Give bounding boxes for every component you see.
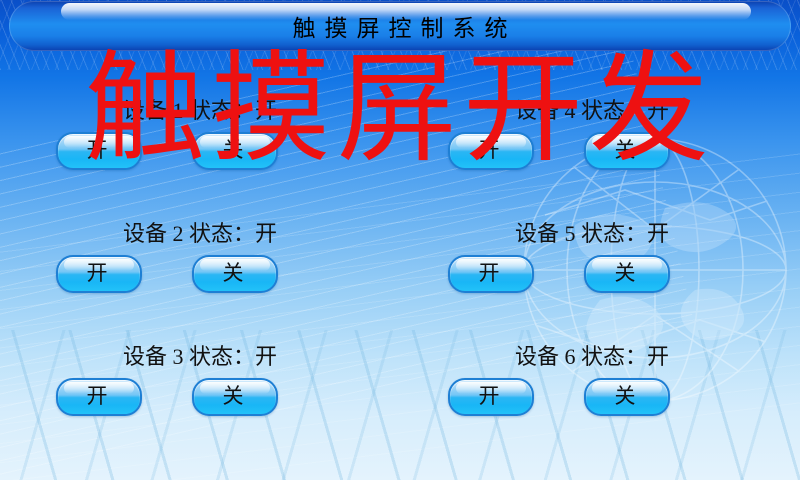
- device-6-on-button[interactable]: 开: [448, 378, 534, 416]
- device-status-label: 设备 2 状态：开: [20, 219, 380, 249]
- device-button-row: 开 关: [412, 132, 772, 172]
- device-1-off-button-label: 关: [194, 134, 272, 164]
- device-6-off-button[interactable]: 关: [584, 378, 670, 416]
- device-5-on-button[interactable]: 开: [448, 255, 534, 293]
- device-status-label: 设备 1 状态：开: [20, 96, 380, 126]
- device-status-label: 设备 4 状态：开: [412, 96, 772, 126]
- device-4-off-button-label: 关: [586, 134, 664, 164]
- device-panel-5: 设备 5 状态：开 开 关: [412, 219, 772, 337]
- device-2-off-button-label: 关: [194, 257, 272, 287]
- device-button-row: 开 关: [412, 255, 772, 295]
- device-2-on-button[interactable]: 开: [56, 255, 142, 293]
- device-button-row: 开 关: [20, 255, 380, 295]
- device-panel-2: 设备 2 状态：开 开 关: [20, 219, 380, 337]
- device-status-label: 设备 3 状态：开: [20, 342, 380, 372]
- device-2-on-button-label: 开: [58, 257, 136, 287]
- device-3-off-button-label: 关: [194, 380, 272, 410]
- device-5-on-button-label: 开: [450, 257, 528, 287]
- device-panel-3: 设备 3 状态：开 开 关: [20, 342, 380, 460]
- device-panel-6: 设备 6 状态：开 开 关: [412, 342, 772, 460]
- device-5-off-button-label: 关: [586, 257, 664, 287]
- device-3-on-button[interactable]: 开: [56, 378, 142, 416]
- device-panel-4: 设备 4 状态：开 开 关: [412, 96, 772, 214]
- device-4-off-button[interactable]: 关: [584, 132, 670, 170]
- device-3-on-button-label: 开: [58, 380, 136, 410]
- device-status-label: 设备 5 状态：开: [412, 219, 772, 249]
- device-button-row: 开 关: [412, 378, 772, 418]
- device-1-on-button-label: 开: [58, 134, 136, 164]
- device-6-off-button-label: 关: [586, 380, 664, 410]
- device-6-on-button-label: 开: [450, 380, 528, 410]
- device-2-off-button[interactable]: 关: [192, 255, 278, 293]
- touch-screen-control-app: 触摸屏控制系统 设备 1 状态：开 开 关 设备 4 状态：开: [0, 0, 800, 480]
- device-control-grid: 设备 1 状态：开 开 关 设备 4 状态：开 开: [0, 96, 800, 456]
- device-4-on-button-label: 开: [450, 134, 528, 164]
- device-1-off-button[interactable]: 关: [192, 132, 278, 170]
- title-banner: 触摸屏控制系统: [9, 1, 791, 51]
- device-3-off-button[interactable]: 关: [192, 378, 278, 416]
- device-1-on-button[interactable]: 开: [56, 132, 142, 170]
- device-5-off-button[interactable]: 关: [584, 255, 670, 293]
- device-4-on-button[interactable]: 开: [448, 132, 534, 170]
- device-button-row: 开 关: [20, 132, 380, 172]
- device-status-label: 设备 6 状态：开: [412, 342, 772, 372]
- device-button-row: 开 关: [20, 378, 380, 418]
- page-title: 触摸屏控制系统: [9, 1, 791, 51]
- device-panel-1: 设备 1 状态：开 开 关: [20, 96, 380, 214]
